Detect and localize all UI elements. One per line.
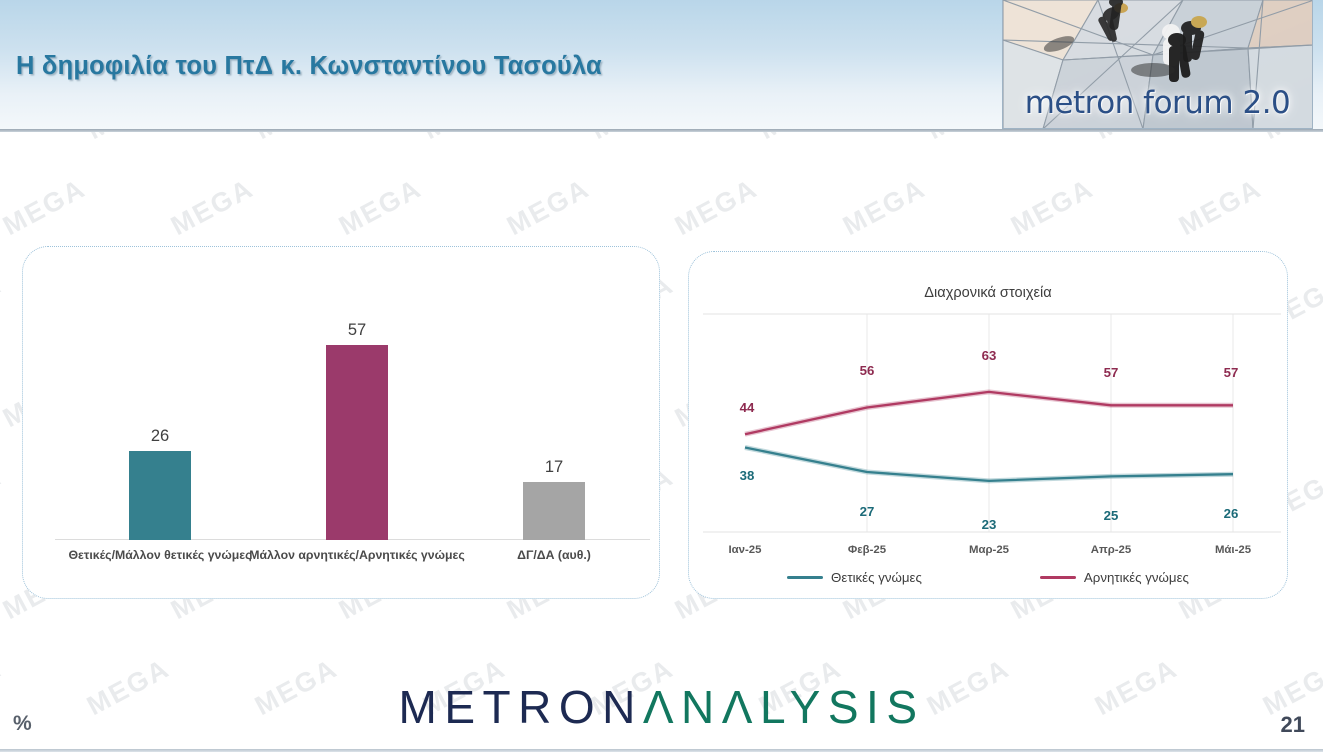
bar[interactable]: [129, 451, 191, 540]
bar-value-label: 57: [348, 321, 366, 340]
watermark-text: MEGA: [334, 173, 427, 242]
line-chart-legend: Θετικές γνώμεςΑρνητικές γνώμες: [689, 570, 1287, 585]
watermark-text: MEGA: [670, 173, 763, 242]
watermark-text: MEGA: [0, 461, 7, 530]
watermark-text: MEGA: [838, 173, 931, 242]
legend-color-swatch: [787, 576, 823, 579]
metron-analysis-logo: METRONΛΝΛLYSIS: [0, 680, 1323, 734]
logo-analysis: ΛΝΛLYSIS: [643, 681, 925, 733]
bar-category-label: Θετικές/Μάλλον θετικές γνώμες: [68, 548, 251, 562]
line-chart-panel: Διαχρονικά στοιχεία 38272325264456635757…: [688, 251, 1288, 599]
x-axis-tick-label: Απρ-25: [1091, 544, 1131, 556]
legend-color-swatch: [1040, 576, 1076, 579]
legend-item[interactable]: Θετικές γνώμες: [787, 570, 922, 585]
x-axis-tick-label: Μάι-25: [1215, 544, 1251, 556]
x-axis-tick-label: Ιαν-25: [729, 544, 762, 556]
page-number: 21: [1281, 712, 1305, 738]
legend-label: Θετικές γνώμες: [831, 570, 922, 585]
legend-label: Αρνητικές γνώμες: [1084, 570, 1189, 585]
logo-metron: METRON: [399, 681, 643, 733]
data-point-label: 57: [1104, 365, 1119, 380]
watermark-text: MEGA: [1174, 173, 1267, 242]
bar-category-label: Μάλλον αρνητικές/Αρνητικές γνώμες: [249, 548, 465, 562]
data-point-label: 44: [740, 400, 755, 415]
bar-chart: 26Θετικές/Μάλλον θετικές γνώμες57Μάλλον …: [23, 247, 659, 598]
forum-logo-wordmark: metron forum 2.0: [1003, 85, 1312, 121]
x-axis-tick-label: Μαρ-25: [969, 544, 1009, 556]
data-point-label: 56: [860, 363, 875, 378]
bar-group: 26Θετικές/Μάλλον θετικές γνώμες: [70, 449, 250, 540]
watermark-text: MEGA: [0, 173, 91, 242]
watermark-text: MEGA: [166, 173, 259, 242]
bar-chart-panel: 26Θετικές/Μάλλον θετικές γνώμες57Μάλλον …: [22, 246, 660, 599]
bar-group: 17ΔΓ/ΔΑ (αυθ.): [464, 480, 644, 540]
data-point-label: 27: [860, 504, 875, 519]
line-chart: Διαχρονικά στοιχεία 38272325264456635757…: [689, 252, 1287, 598]
bar[interactable]: [326, 345, 388, 540]
bar-group: 57Μάλλον αρνητικές/Αρνητικές γνώμες: [267, 343, 447, 540]
watermark-text: MEGA: [1006, 173, 1099, 242]
line-chart-plot-area: 38272325264456635757: [703, 308, 1281, 538]
header-divider: [0, 129, 1323, 132]
watermark-text: MEGA: [0, 269, 7, 338]
watermark-text: MEGA: [502, 173, 595, 242]
metron-forum-logo: metron forum 2.0: [1002, 0, 1313, 129]
legend-item[interactable]: Αρνητικές γνώμες: [1040, 570, 1189, 585]
bar-value-label: 26: [151, 427, 169, 446]
line-chart-svg: [703, 308, 1281, 538]
page-title: Η δημοφιλία του ΠτΔ κ. Κωνσταντίνου Τασο…: [16, 52, 602, 81]
data-point-label: 57: [1224, 365, 1239, 380]
data-point-label: 63: [982, 348, 997, 363]
data-point-label: 38: [740, 468, 755, 483]
x-axis-tick-label: Φεβ-25: [848, 544, 886, 556]
data-point-label: 23: [982, 517, 997, 532]
bar-category-label: ΔΓ/ΔΑ (αυθ.): [517, 548, 591, 562]
bar-value-label: 17: [545, 458, 563, 477]
bar[interactable]: [523, 482, 585, 540]
data-point-label: 25: [1104, 508, 1119, 523]
data-point-label: 26: [1224, 506, 1239, 521]
line-chart-title: Διαχρονικά στοιχεία: [689, 285, 1287, 301]
